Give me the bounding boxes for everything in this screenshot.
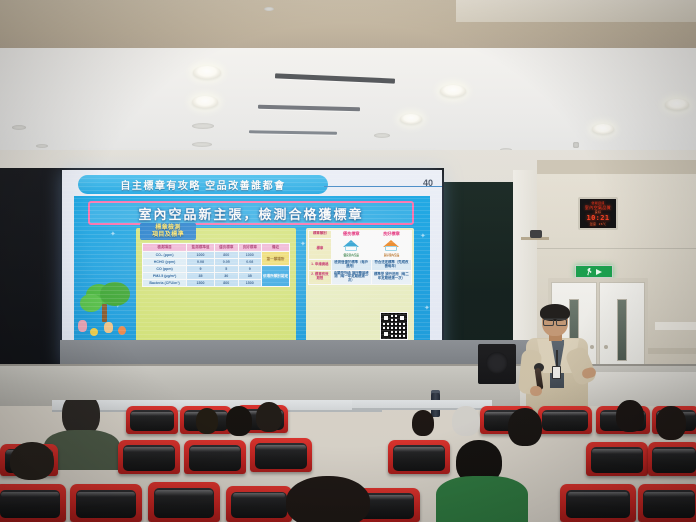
ceiling-recessed-fixture: [192, 142, 212, 147]
auditorium-photo: 會場資訊 室內空氣品質 良好 10:21 溫度 26℃ 自主標章有攻略 空品改善…: [0, 0, 696, 522]
audience-head: [616, 400, 644, 432]
badge-excellent-cell: 優良室內空品: [331, 238, 371, 259]
cell-good-validity: 標準型 須行法用（每二年定期檢測一次）: [371, 270, 411, 285]
rowhdr-validity: 2. 標章有效期限: [309, 270, 332, 285]
cell-item: Bacteria (CFU/m³): [143, 280, 187, 287]
cell-excellent: 5: [215, 266, 239, 273]
table-row: CO (ppm) 9 5 9 依場所類別認定: [143, 266, 290, 273]
upper-wall-band-right: [456, 0, 696, 22]
table-row: 1. 申請資格 檢測值優於標準（每戶適用） 符合法定標準（完成改善每年）: [309, 259, 412, 270]
rowhdr-badge: 標章: [309, 238, 332, 259]
table-row: CO₂ (ppm) 1000 800 1000 第一類場所: [143, 252, 290, 259]
seat: [70, 484, 142, 522]
badge-comparison-table: 標章類別 優良標章 良好標章 標章 優良室內空品: [308, 230, 412, 285]
presentation-slide: 自主標章有攻略 空品改善誰都會 40 室內空品新主張，檢測合格獲標章 ✦ ✦ ✦…: [62, 170, 442, 366]
slide-title-banner: 自主標章有攻略 空品改善誰都會: [78, 175, 328, 194]
led-line-2: 室內空氣品質: [585, 206, 611, 210]
cell-item: HCHO (ppm): [143, 259, 187, 266]
slide-page-number: 40: [423, 178, 433, 188]
audience-head: [226, 406, 252, 436]
cell-note-bottom: 依場所類別認定: [262, 266, 290, 287]
left-dark-panel: [0, 168, 62, 378]
audience-head: [196, 408, 218, 434]
ceiling-recessed-fixture: [36, 144, 48, 148]
qr-finder-pattern: [398, 314, 406, 322]
ceiling-recessed-fixture: [12, 125, 26, 130]
seat: [148, 482, 220, 522]
glasses-icon: [543, 318, 567, 323]
led-line-5: 溫度 26℃: [590, 223, 607, 226]
cell-good: 0.08: [238, 259, 262, 266]
sparkle-icon: ✦: [300, 240, 306, 248]
slide-headline: 室內空品新主張，檢測合格獲標章: [88, 201, 414, 225]
seat: [586, 442, 648, 476]
cell-item: CO (ppm): [143, 266, 187, 273]
led-clock-time: 10:21: [586, 215, 609, 222]
house-badge-icon: [343, 240, 359, 253]
seat: [538, 406, 592, 434]
seat: [226, 486, 292, 522]
cell-good: 1000: [238, 252, 262, 259]
audience-head: [412, 410, 434, 436]
presenter-hand-left: [530, 386, 542, 396]
seat: [638, 484, 696, 522]
cell-standard: 1000: [187, 252, 215, 259]
sparkle-icon: ✦: [420, 232, 426, 240]
audience-head: [256, 402, 282, 432]
cell-excellent: 30: [215, 273, 239, 280]
col-item: 檢測項目: [143, 244, 187, 252]
ceiling-recessed-fixture: [192, 123, 214, 129]
cell-item: PM2.5 (µg/m³): [143, 273, 187, 280]
sparkle-icon: ✦: [424, 304, 430, 312]
exit-arrow-icon: [596, 269, 602, 275]
exit-sign: [575, 265, 613, 278]
wall-trim-strip: [648, 348, 696, 354]
audience-head: [508, 408, 542, 446]
col-good-title: 良好標章: [371, 231, 411, 239]
cell-item: CO₂ (ppm): [143, 252, 187, 259]
ceiling-downlight: [665, 99, 689, 110]
col-excellent: 優良標章: [215, 244, 239, 252]
ceiling-recessed-fixture: [374, 133, 390, 138]
presenter-id-badge: [552, 366, 561, 379]
cell-excellent: 0.05: [215, 259, 239, 266]
seat: [250, 438, 312, 472]
ceiling-downlight: [193, 66, 221, 79]
seat: [648, 442, 696, 476]
seat: [118, 440, 180, 474]
badge-good-cell: 良好室內空品: [371, 238, 411, 259]
wall-mounted-device: [530, 230, 542, 238]
ceiling-downlight: [192, 96, 218, 108]
sparkle-icon: ✦: [110, 230, 116, 238]
qr-finder-pattern: [382, 330, 390, 338]
table-row: 標章 優良室內空品: [309, 238, 412, 259]
cell-good: 9: [238, 266, 262, 273]
ceiling-downlight: [592, 124, 614, 134]
child-illustration: [104, 322, 113, 333]
audience-head-grey: [452, 406, 480, 436]
cell-standard: 9: [187, 266, 215, 273]
cell-good-requirement: 符合法定標準（完成改善每年）: [371, 259, 411, 270]
audience-shoulders: [436, 476, 528, 522]
child-illustration: [90, 328, 98, 336]
table-header-row: 檢測項目 監測標準值 優良標章 良好標章 備註: [143, 244, 290, 252]
table-row: 2. 標章有效期限 由關型列函 須行簡易檢測（每一年定期檢測一次） 標準型 須行…: [309, 270, 412, 285]
cell-excellent-requirement: 檢測值優於標準（每戶適用）: [331, 259, 371, 270]
cell-standard: 0.08: [187, 259, 215, 266]
cell-excellent-validity: 由關型列函 須行簡易檢測（每一年定期檢測一次）: [331, 270, 371, 285]
child-illustration: [118, 326, 126, 335]
rowhdr-category: 標章類別: [309, 231, 332, 239]
speaker-cone: [486, 352, 508, 374]
child-illustration: [78, 320, 87, 332]
badge-good-caption: 良好室內空品: [373, 255, 410, 258]
presenter-lanyard-strap: [556, 350, 558, 367]
seat: [560, 484, 636, 522]
led-info-board: 會場資訊 室內空氣品質 良好 10:21 溫度 26℃: [578, 197, 618, 230]
wall-panel-line: [537, 248, 696, 249]
col-standard: 監測標準值: [187, 244, 215, 252]
ceiling-recessed-fixture: [264, 7, 274, 11]
cell-good: 35: [238, 273, 262, 280]
seat: [0, 484, 66, 522]
standards-card-tab: 標章檢測 項目及標準: [140, 223, 196, 240]
cell-standard: 1500: [187, 280, 215, 287]
right-wall-top-trim: [537, 160, 696, 174]
audience-area: [0, 400, 696, 522]
running-man-icon: [587, 268, 593, 276]
cell-note-top: 第一類場所: [262, 252, 290, 266]
col-good: 良好標章: [238, 244, 262, 252]
col-excellent-title: 優良標章: [331, 231, 371, 239]
cell-excellent: 800: [215, 280, 239, 287]
house-badge-icon: [383, 240, 399, 253]
seat: [388, 440, 450, 474]
rowhdr-requirement: 1. 申請資格: [309, 259, 332, 270]
tree-illustration: [80, 282, 132, 326]
cell-good: 1500: [238, 280, 262, 287]
seat: [126, 406, 178, 434]
table-row: 標章類別 優良標章 良好標章: [309, 231, 412, 239]
seat: [184, 440, 246, 474]
wall-trim-strip: [655, 322, 696, 330]
audience-head-foreground: [286, 476, 370, 522]
qr-finder-pattern: [382, 314, 390, 322]
standards-table: 檢測項目 監測標準值 優良標章 良好標章 備註 CO₂ (ppm) 1000 8…: [142, 243, 290, 287]
ceiling-downlight: [400, 114, 422, 124]
projection-screen: 自主標章有攻略 空品改善誰都會 40 室內空品新主張，檢測合格獲標章 ✦ ✦ ✦…: [62, 170, 442, 366]
cell-excellent: 800: [215, 252, 239, 259]
audience-head: [656, 406, 686, 440]
ceiling-sprinkler: [573, 142, 579, 148]
ceiling-downlight: [440, 85, 466, 97]
cell-standard: 35: [187, 273, 215, 280]
door-glass-panel: [617, 299, 627, 361]
col-note: 備註: [262, 244, 290, 252]
slide-body: 室內空品新主張，檢測合格獲標章 ✦ ✦ ✦ ✦ ✦ 標章檢測 項目及標準 檢測項…: [74, 196, 430, 362]
loudspeaker-cabinet: [478, 344, 516, 384]
qr-code[interactable]: [380, 312, 408, 340]
standards-tab-line1: 標章檢測: [155, 225, 181, 232]
audience-head: [10, 442, 54, 480]
standards-tab-line2: 項目及標準: [152, 232, 184, 239]
badge-excellent-caption: 優良室內空品: [333, 255, 370, 258]
